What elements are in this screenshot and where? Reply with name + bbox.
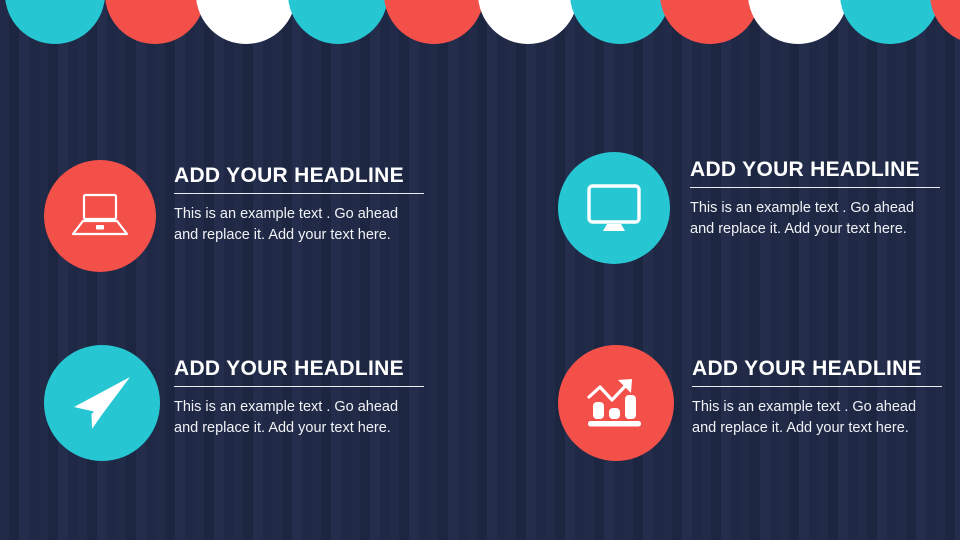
scallop-circle (196, 0, 296, 44)
body-text-1: This is an example text . Go ahead and r… (174, 204, 419, 246)
feature-text-4: ADD YOUR HEADLINE This is an example tex… (692, 357, 942, 439)
icon-circle-bar-chart[interactable] (558, 345, 674, 461)
headline-1: ADD YOUR HEADLINE (174, 164, 424, 194)
scallop-circle (930, 0, 960, 44)
scallop-circle (748, 0, 848, 44)
headline-3: ADD YOUR HEADLINE (174, 357, 424, 387)
scallop-circle (384, 0, 484, 44)
feature-text-2: ADD YOUR HEADLINE This is an example tex… (690, 158, 940, 240)
slide-canvas: ADD YOUR HEADLINE This is an example tex… (0, 0, 960, 540)
headline-2: ADD YOUR HEADLINE (690, 158, 940, 188)
scallop-circle (105, 0, 205, 44)
feature-text-1: ADD YOUR HEADLINE This is an example tex… (174, 164, 424, 246)
feature-item-3[interactable]: ADD YOUR HEADLINE This is an example tex… (44, 345, 424, 461)
feature-item-1[interactable]: ADD YOUR HEADLINE This is an example tex… (44, 160, 424, 272)
feature-text-3: ADD YOUR HEADLINE This is an example tex… (174, 357, 424, 439)
desktop-monitor-icon (585, 182, 643, 234)
paper-plane-icon (70, 373, 134, 433)
laptop-icon (70, 192, 130, 240)
scallop-circle (570, 0, 670, 44)
feature-item-4[interactable]: ADD YOUR HEADLINE This is an example tex… (558, 345, 942, 461)
icon-circle-laptop[interactable] (44, 160, 156, 272)
scallop-decoration-band (0, 0, 960, 46)
body-text-2: This is an example text . Go ahead and r… (690, 198, 935, 240)
headline-4: ADD YOUR HEADLINE (692, 357, 942, 387)
scallop-circle (660, 0, 760, 44)
scallop-circle (288, 0, 388, 44)
bar-chart-growth-icon (585, 375, 647, 431)
body-text-4: This is an example text . Go ahead and r… (692, 397, 937, 439)
scallop-circle (478, 0, 578, 44)
feature-item-2[interactable]: ADD YOUR HEADLINE This is an example tex… (558, 152, 940, 264)
scallop-circle (840, 0, 940, 44)
body-text-3: This is an example text . Go ahead and r… (174, 397, 419, 439)
scallop-circle (5, 0, 105, 44)
icon-circle-monitor[interactable] (558, 152, 670, 264)
icon-circle-paper-plane[interactable] (44, 345, 160, 461)
